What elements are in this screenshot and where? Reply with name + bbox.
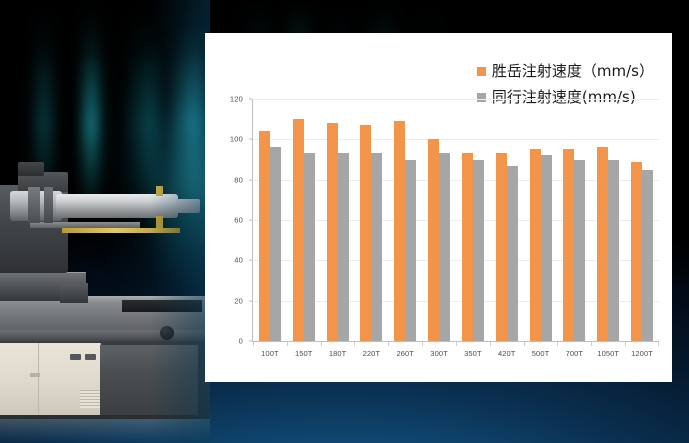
orange-square-icon bbox=[477, 67, 486, 76]
slide-canvas: 胜岳注射速度（mm/s） 同行注射速度(mm/s) 12010080604020… bbox=[0, 0, 689, 443]
y-axis-tick-label: 100 bbox=[230, 135, 243, 144]
bar-peer bbox=[574, 160, 585, 342]
plot-area: 120100806040200 100T150T180T220T260T300T… bbox=[219, 99, 659, 361]
y-axis: 120100806040200 bbox=[219, 99, 249, 341]
bar-group bbox=[253, 99, 287, 341]
cabinet-button-left bbox=[70, 354, 81, 360]
x-axis-tick bbox=[591, 342, 625, 347]
x-axis-tick-mark bbox=[287, 342, 288, 346]
x-axis-tick-mark bbox=[253, 342, 254, 346]
y-axis-tick-label: 80 bbox=[234, 175, 243, 184]
bar-group bbox=[557, 99, 591, 341]
bar-peer bbox=[642, 170, 653, 341]
chart-panel: 胜岳注射速度（mm/s） 同行注射速度(mm/s) 12010080604020… bbox=[205, 33, 672, 382]
injection-molding-machine-photo bbox=[0, 0, 210, 443]
y-axis-tick-label: 40 bbox=[234, 256, 243, 265]
bar-group bbox=[287, 99, 321, 341]
x-axis-tick-label: 420T bbox=[490, 349, 524, 358]
bar-peer bbox=[304, 153, 315, 341]
bar-shengyue bbox=[563, 149, 574, 341]
bar-shengyue bbox=[327, 123, 338, 341]
bar-shengyue bbox=[428, 139, 439, 341]
bar-group bbox=[625, 99, 659, 341]
bar-shengyue bbox=[259, 131, 270, 341]
legend-item-shengyue: 胜岳注射速度（mm/s） bbox=[477, 61, 654, 81]
x-axis-tick-mark bbox=[557, 342, 558, 346]
bar-peer bbox=[541, 155, 552, 341]
x-axis-tick bbox=[287, 342, 321, 347]
x-axis-tick-mark bbox=[658, 342, 659, 346]
x-axis-tick-label: 260T bbox=[388, 349, 422, 358]
plot-canvas bbox=[253, 99, 659, 341]
x-axis-tick bbox=[321, 342, 355, 347]
cabinet-label-slot bbox=[30, 373, 40, 377]
x-axis-tick-label: 1050T bbox=[591, 349, 625, 358]
x-axis-tick bbox=[253, 342, 287, 347]
bar-peer bbox=[608, 160, 619, 342]
bar-peer bbox=[371, 153, 382, 341]
x-axis-tick-label: 1200T bbox=[625, 349, 659, 358]
x-axis-tick bbox=[625, 342, 659, 347]
x-axis-tick bbox=[422, 342, 456, 347]
bar-shengyue bbox=[394, 121, 405, 341]
legend-label-shengyue: 胜岳注射速度（mm/s） bbox=[492, 64, 654, 79]
x-axis-tick-mark bbox=[625, 342, 626, 346]
x-axis-tick bbox=[354, 342, 388, 347]
x-axis-tick-mark bbox=[354, 342, 355, 346]
bar-peer bbox=[507, 166, 518, 341]
y-axis-tick-label: 0 bbox=[239, 337, 243, 346]
x-axis-tick-mark bbox=[422, 342, 423, 346]
x-axis-tick-label: 100T bbox=[253, 349, 287, 358]
x-axis-tick-label: 300T bbox=[422, 349, 456, 358]
bar-shengyue bbox=[496, 153, 507, 341]
x-axis-tick-mark bbox=[490, 342, 491, 346]
bar-peer bbox=[270, 147, 281, 341]
x-axis-tick-label: 500T bbox=[524, 349, 558, 358]
x-axis-ticks bbox=[253, 342, 659, 347]
x-axis-tick-mark bbox=[388, 342, 389, 346]
machine-clamp-a bbox=[28, 187, 40, 223]
x-axis-tick-mark bbox=[524, 342, 525, 346]
bar-groups bbox=[253, 99, 659, 341]
x-axis-tick-label: 150T bbox=[287, 349, 321, 358]
y-axis-tick-label: 120 bbox=[230, 95, 243, 104]
bar-group bbox=[490, 99, 524, 341]
bar-group bbox=[321, 99, 355, 341]
x-axis-tick-mark bbox=[456, 342, 457, 346]
bar-shengyue bbox=[631, 162, 642, 341]
x-axis-tick-label: 700T bbox=[557, 349, 591, 358]
machine-rail-foot bbox=[60, 283, 88, 303]
bar-group bbox=[388, 99, 422, 341]
x-axis-tick bbox=[557, 342, 591, 347]
machine-right-fade bbox=[150, 0, 210, 443]
bar-shengyue bbox=[360, 125, 371, 341]
machine-clamp-b bbox=[44, 187, 53, 223]
cabinet-seam bbox=[38, 343, 39, 415]
x-axis-tick bbox=[388, 342, 422, 347]
cabinet-button-right bbox=[85, 354, 96, 360]
bar-peer bbox=[473, 160, 484, 342]
bar-peer bbox=[338, 153, 349, 341]
y-axis-tick-label: 20 bbox=[234, 296, 243, 305]
bar-group bbox=[422, 99, 456, 341]
x-axis-tick-mark bbox=[321, 342, 322, 346]
bar-group bbox=[456, 99, 490, 341]
bar-peer bbox=[439, 153, 450, 341]
bar-shengyue bbox=[293, 119, 304, 341]
x-axis-tick bbox=[490, 342, 524, 347]
bar-shengyue bbox=[530, 149, 541, 341]
x-axis-tick-mark bbox=[591, 342, 592, 346]
machine-hopper bbox=[18, 162, 44, 176]
bar-shengyue bbox=[597, 147, 608, 341]
bar-peer bbox=[405, 160, 416, 342]
x-axis-tick-label: 180T bbox=[321, 349, 355, 358]
x-axis-labels: 100T150T180T220T260T300T350T420T500T700T… bbox=[253, 349, 659, 358]
bar-group bbox=[591, 99, 625, 341]
bar-group bbox=[354, 99, 388, 341]
bar-group bbox=[524, 99, 558, 341]
x-axis-tick bbox=[524, 342, 558, 347]
x-axis-tick-label: 350T bbox=[456, 349, 490, 358]
y-axis-tick-label: 60 bbox=[234, 216, 243, 225]
cabinet-vent-grille bbox=[80, 390, 102, 408]
x-axis-tick-label: 220T bbox=[354, 349, 388, 358]
bar-shengyue bbox=[462, 153, 473, 341]
x-axis-tick bbox=[456, 342, 490, 347]
